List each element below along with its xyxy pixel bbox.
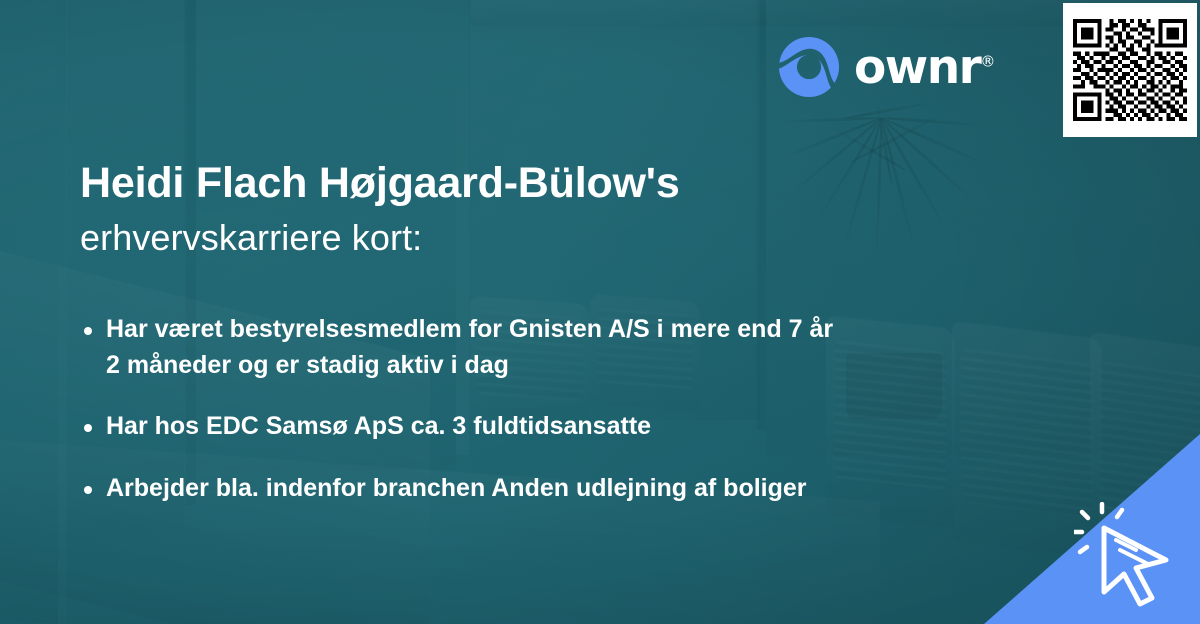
qr-code-panel[interactable] [1063, 3, 1197, 137]
qr-code-icon [1073, 13, 1187, 127]
bullet-dot-icon [84, 424, 92, 432]
list-item: Har hos EDC Samsø ApS ca. 3 fuldtidsansa… [80, 409, 840, 445]
registered-trademark-mark: ® [980, 52, 995, 70]
list-item-label: Har været bestyrelsesmedlem for Gnisten … [106, 315, 833, 379]
bullet-dot-icon [84, 327, 92, 335]
ownr-wordmark: ownr® [854, 44, 995, 91]
list-item: Arbejder bla. indenfor branchen Anden ud… [80, 471, 840, 507]
click-cursor-icon [1074, 502, 1186, 610]
list-item-label: Arbejder bla. indenfor branchen Anden ud… [106, 474, 807, 502]
headline-block: Heidi Flach Højgaard-Bülow's erhvervskar… [80, 158, 940, 261]
ownr-logo[interactable]: ownr® [778, 36, 995, 98]
ownr-wordmark-text: ownr [854, 40, 980, 95]
list-item: Har været bestyrelsesmedlem for Gnisten … [80, 312, 840, 383]
career-card: ownr® Heidi Flach Højgaard-Bülow's erhve… [0, 0, 1200, 624]
ownr-circle-logo-icon [778, 36, 840, 98]
page-title: Heidi Flach Højgaard-Bülow's [80, 158, 940, 209]
career-bullet-list: Har været bestyrelsesmedlem for Gnisten … [80, 312, 900, 506]
page-subtitle: erhvervskarriere kort: [80, 215, 940, 261]
list-item-label: Har hos EDC Samsø ApS ca. 3 fuldtidsansa… [106, 412, 651, 440]
bullet-dot-icon [84, 486, 92, 494]
